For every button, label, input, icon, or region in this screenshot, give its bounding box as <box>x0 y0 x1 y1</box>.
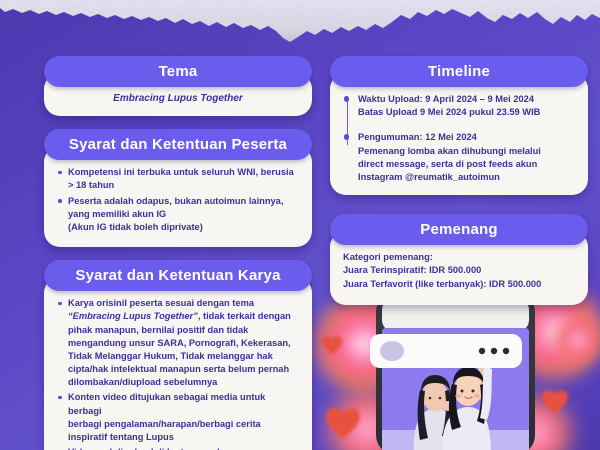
bullet-quote: “Embracing Lupus Together” <box>68 311 198 321</box>
section-timeline-header: Timeline <box>330 56 588 87</box>
section-syarat-karya-body: Karya orisinil peserta sesuai dengan tem… <box>44 277 312 450</box>
timeline-line: Pengumuman: 12 Mei 2024 <box>358 131 575 144</box>
bullet-line: inspiratif tentang Lupus <box>68 432 174 442</box>
bullet-line: mengandung unsur SARA, Pornografi, Keker… <box>68 338 291 348</box>
tema-value: Embracing Lupus Together <box>113 93 243 104</box>
bullet-line: Konten video ditujukan sebagai media unt… <box>68 392 265 415</box>
timeline-line: Waktu Upload: 9 April 2024 – 9 Mei 2024 <box>358 93 575 106</box>
left-column: Tema Embracing Lupus Together Syarat dan… <box>44 56 312 450</box>
bullet-line: > 18 tahun <box>68 180 114 190</box>
section-pemenang-header: Pemenang <box>330 214 588 245</box>
pemenang-line: Juara Terinspiratif: IDR 500.000 <box>343 264 575 277</box>
bullet-line: Peserta adalah odapus, bukan autoimun la… <box>68 196 283 206</box>
poster-canvas: Tema Embracing Lupus Together Syarat dan… <box>0 0 600 450</box>
timeline-item-upload: Waktu Upload: 9 April 2024 – 9 Mei 2024 … <box>358 93 575 119</box>
timeline-line: Batas Upload 9 Mei 2024 pukul 23.59 WIB <box>358 106 575 119</box>
bullet-line: , tidak terkait dengan <box>198 311 291 321</box>
like-orb-small-top <box>556 318 600 362</box>
section-timeline: Timeline Waktu Upload: 9 April 2024 – 9 … <box>330 56 588 195</box>
bullet-line: Karya orisinil peserta sesuai dengan tem… <box>68 298 254 308</box>
bullet-line: pihak manapun, bernilai positif dan tida… <box>68 325 248 335</box>
orb-gradient <box>330 392 404 450</box>
karya-bullet-list: Karya orisinil peserta sesuai dengan tem… <box>57 297 299 450</box>
timeline-line: Pemenang lomba akan dihubungi melalui <box>358 145 575 158</box>
section-syarat-peserta: Syarat dan Ketentuan Peserta Kompetensi … <box>44 129 312 247</box>
section-pemenang: Pemenang Kategori pemenang: Juara Terins… <box>330 214 588 305</box>
bullet-line: Kompetensi ini terbuka untuk seluruh WNI… <box>68 167 294 177</box>
pemenang-line: Juara Terfavorit (like terbanyak): IDR 5… <box>343 278 575 291</box>
timeline-item-pengumuman: Pengumuman: 12 Mei 2024 Pemenang lomba a… <box>358 131 575 184</box>
like-orb-bottom-left <box>330 392 404 450</box>
like-orb-bottom-right <box>500 398 570 450</box>
timeline-track: Waktu Upload: 9 April 2024 – 9 Mei 2024 … <box>343 93 575 184</box>
section-syarat-karya-header: Syarat dan Ketentuan Karya <box>44 260 312 291</box>
orb-gradient <box>556 318 600 362</box>
section-syarat-peserta-body: Kompetensi ini terbuka untuk seluruh WNI… <box>44 146 312 247</box>
section-timeline-body: Waktu Upload: 9 April 2024 – 9 Mei 2024 … <box>330 73 588 195</box>
heart-icon <box>542 390 568 415</box>
bullet-line: berbagi pengalaman/harapan/berbagi cerit… <box>68 419 261 429</box>
orb-gradient <box>500 398 570 450</box>
heart-icon <box>326 408 360 440</box>
bullet-line: (Akun IG tidak boleh diprivate) <box>68 222 203 232</box>
bullet-line: cipta/hak intelektual manapun serta belu… <box>68 364 289 374</box>
heart-icon <box>322 336 342 355</box>
section-tema-header: Tema <box>44 56 312 87</box>
list-item: Kompetensi ini terbuka untuk seluruh WNI… <box>57 166 299 192</box>
section-tema: Tema Embracing Lupus Together <box>44 56 312 116</box>
section-syarat-peserta-header: Syarat dan Ketentuan Peserta <box>44 129 312 160</box>
section-syarat-karya: Syarat dan Ketentuan Karya Karya orisini… <box>44 260 312 450</box>
pemenang-line: Kategori pemenang: <box>343 251 575 264</box>
bullet-line: yang memiliki akun IG <box>68 209 166 219</box>
timeline-line: Instagram @reumatik_autoimun <box>358 171 575 184</box>
peserta-bullet-list: Kompetensi ini terbuka untuk seluruh WNI… <box>57 166 299 234</box>
torn-paper-edge <box>0 0 600 46</box>
timeline-line: direct message, serta di post feeds akun <box>358 158 575 171</box>
bullet-line: Tidak Melanggar Hukum, Tidak melanggar h… <box>68 351 273 361</box>
list-item: Karya orisinil peserta sesuai dengan tem… <box>57 297 299 389</box>
list-item: Video reel diupload di Instagram dengan … <box>57 446 299 450</box>
right-column: Timeline Waktu Upload: 9 April 2024 – 9 … <box>330 56 588 318</box>
list-item: Konten video ditujukan sebagai media unt… <box>57 391 299 444</box>
list-item: Peserta adalah odapus, bukan autoimun la… <box>57 195 299 235</box>
bullet-line: dilombakan/diupload sebelumnya <box>68 377 217 387</box>
